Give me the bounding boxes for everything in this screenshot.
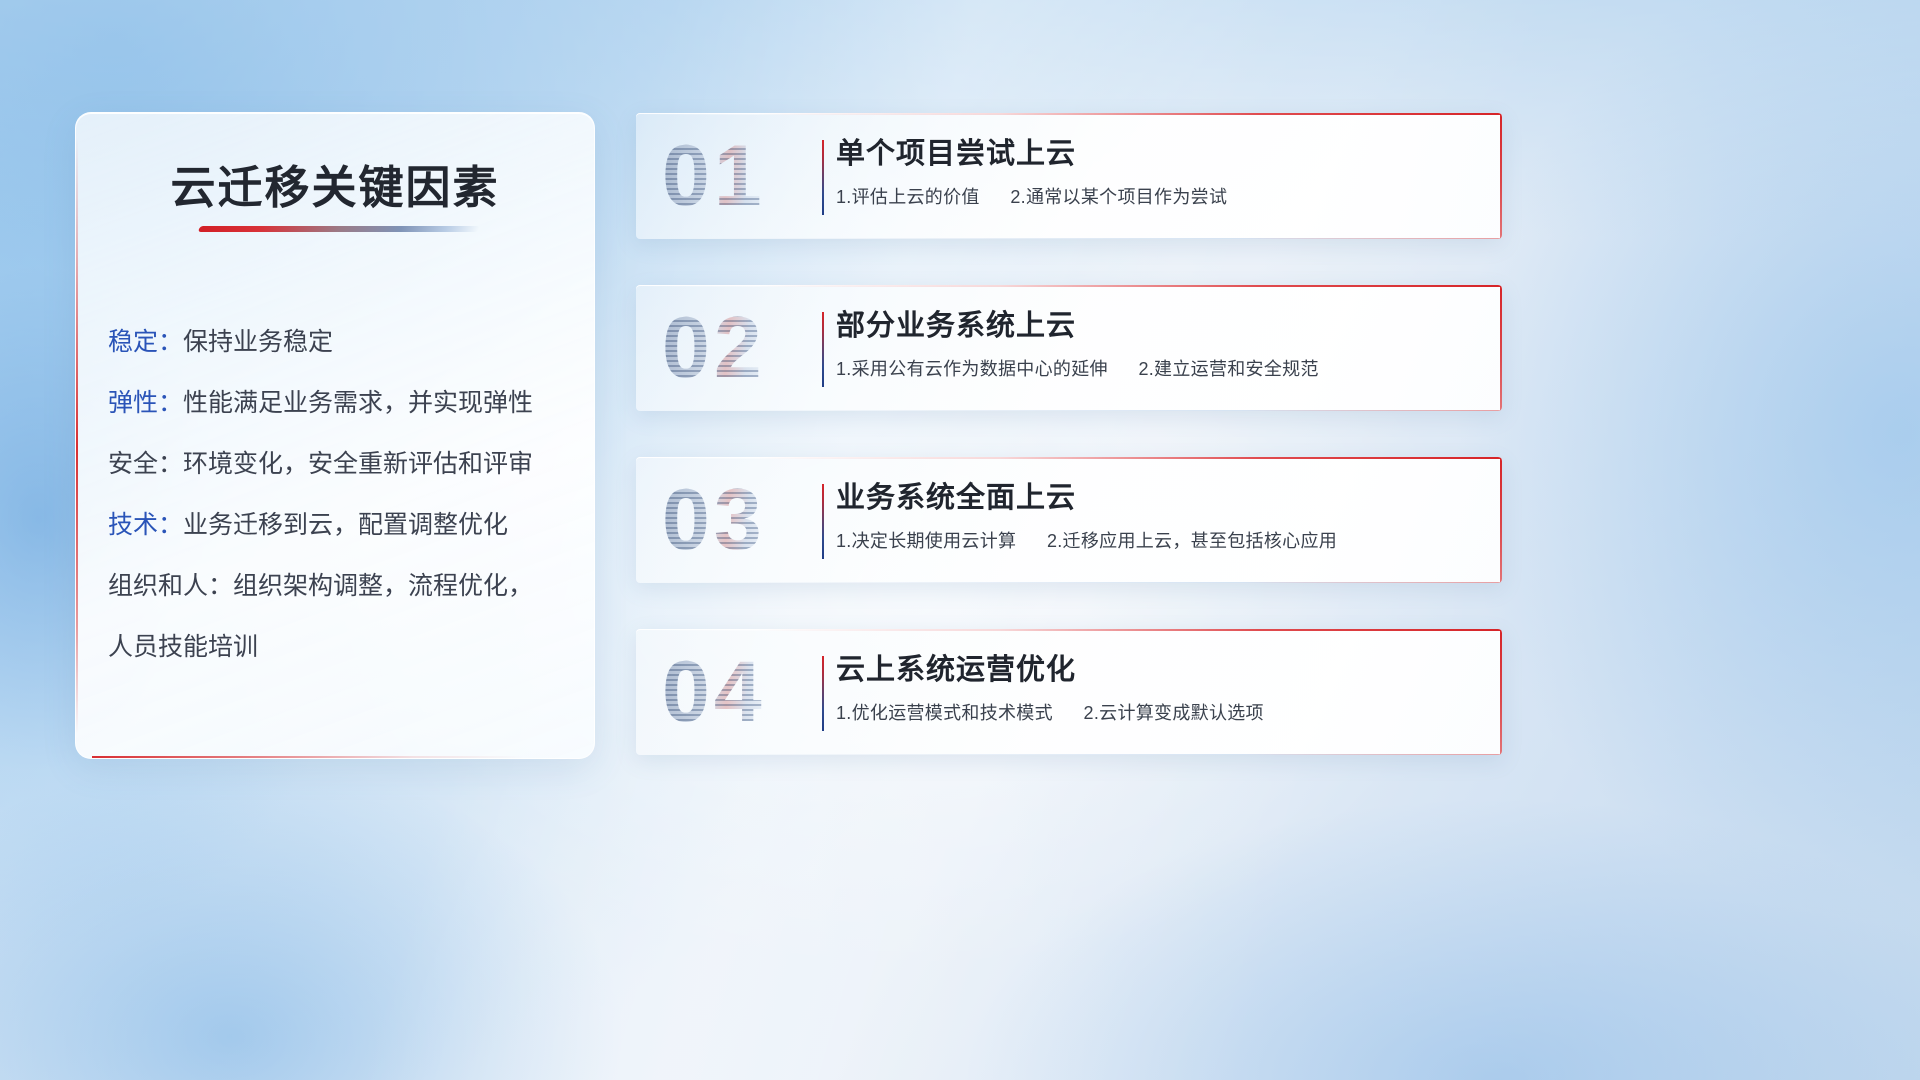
stage-cards-list: 01 单个项目尝试上云 1.评估上云的价值 2.通常以某个项目作为尝试 02 部… (636, 113, 1502, 801)
card-top-accent (636, 629, 1502, 631)
card-content: 部分业务系统上云 1.采用公有云作为数据中心的延伸 2.建立运营和安全规范 (836, 309, 1480, 381)
card-step-number: 01 (662, 133, 766, 219)
key-factors-panel: 云迁移关键因素 稳定： 保持业务稳定 弹性： 性能满足业务需求，并实现弹性 安全… (75, 112, 595, 759)
card-bottom-edge (636, 410, 1502, 411)
card-subitem: 2.云计算变成默认选项 (1084, 703, 1264, 723)
card-divider-bar (822, 140, 824, 215)
card-divider-bar (822, 484, 824, 559)
list-item-value: 人员技能培训 (108, 627, 258, 663)
list-item-label: 弹性： (108, 383, 183, 419)
list-item-value: 性能满足业务需求，并实现弹性 (183, 383, 533, 419)
card-top-accent (636, 285, 1502, 287)
card-right-accent (1500, 285, 1502, 411)
card-subtitle: 1.采用公有云作为数据中心的延伸 2.建立运营和安全规范 (836, 355, 1480, 381)
card-subitem: 1.决定长期使用云计算 (836, 531, 1016, 551)
list-item: 技术： 业务迁移到云，配置调整优化 (108, 492, 576, 553)
list-item: 安全： 环境变化，安全重新评估和评审 (108, 431, 576, 492)
card-step-number: 03 (662, 477, 766, 563)
key-factors-list: 稳定： 保持业务稳定 弹性： 性能满足业务需求，并实现弹性 安全： 环境变化，安… (108, 309, 576, 675)
stage-card[interactable]: 04 云上系统运营优化 1.优化运营模式和技术模式 2.云计算变成默认选项 (636, 629, 1502, 755)
list-item: 组织和人： 组织架构调整，流程优化， (108, 553, 576, 614)
card-title: 业务系统全面上云 (836, 481, 1480, 516)
list-item-label: 组织和人： (108, 566, 233, 602)
stage-card[interactable]: 02 部分业务系统上云 1.采用公有云作为数据中心的延伸 2.建立运营和安全规范 (636, 285, 1502, 411)
card-bottom-edge (636, 754, 1502, 755)
list-item-value: 组织架构调整，流程优化， (233, 566, 533, 602)
list-item-value: 业务迁移到云，配置调整优化 (183, 505, 508, 541)
card-subtitle: 1.决定长期使用云计算 2.迁移应用上云，甚至包括核心应用 (836, 527, 1480, 553)
title-underline-accent (198, 226, 480, 232)
list-item: 弹性： 性能满足业务需求，并实现弹性 (108, 370, 576, 431)
card-divider-bar (822, 312, 824, 387)
card-title: 部分业务系统上云 (836, 309, 1480, 344)
card-content: 云上系统运营优化 1.优化运营模式和技术模式 2.云计算变成默认选项 (836, 653, 1480, 725)
card-subtitle: 1.优化运营模式和技术模式 2.云计算变成默认选项 (836, 699, 1480, 725)
card-step-number: 02 (662, 305, 766, 391)
stage-card[interactable]: 03 业务系统全面上云 1.决定长期使用云计算 2.迁移应用上云，甚至包括核心应… (636, 457, 1502, 583)
card-content: 单个项目尝试上云 1.评估上云的价值 2.通常以某个项目作为尝试 (836, 137, 1480, 209)
card-divider-bar (822, 656, 824, 731)
list-item-value: 环境变化，安全重新评估和评审 (183, 444, 533, 480)
card-subitem: 1.采用公有云作为数据中心的延伸 (836, 359, 1108, 379)
list-item-label: 稳定： (108, 322, 183, 358)
card-right-accent (1500, 457, 1502, 583)
card-title: 单个项目尝试上云 (836, 137, 1480, 172)
panel-title: 云迁移关键因素 (76, 151, 594, 216)
list-item-label: 技术： (108, 505, 183, 541)
card-bottom-edge (636, 582, 1502, 583)
list-item-value: 保持业务稳定 (183, 322, 333, 358)
card-subitem: 2.通常以某个项目作为尝试 (1010, 187, 1227, 207)
list-item: 稳定： 保持业务稳定 (108, 309, 576, 370)
card-content: 业务系统全面上云 1.决定长期使用云计算 2.迁移应用上云，甚至包括核心应用 (836, 481, 1480, 553)
list-item-label: 安全： (108, 444, 183, 480)
list-item-continuation: 人员技能培训 (108, 614, 576, 675)
slide-canvas: 云迁移关键因素 稳定： 保持业务稳定 弹性： 性能满足业务需求，并实现弹性 安全… (0, 0, 1920, 1080)
card-subitem: 2.建立运营和安全规范 (1138, 359, 1318, 379)
card-subitem: 1.优化运营模式和技术模式 (836, 703, 1053, 723)
stage-card[interactable]: 01 单个项目尝试上云 1.评估上云的价值 2.通常以某个项目作为尝试 (636, 113, 1502, 239)
card-subitem: 1.评估上云的价值 (836, 187, 980, 207)
card-top-accent (636, 457, 1502, 459)
card-subtitle: 1.评估上云的价值 2.通常以某个项目作为尝试 (836, 183, 1480, 209)
card-top-accent (636, 113, 1502, 115)
card-step-number: 04 (662, 649, 766, 735)
card-bottom-edge (636, 238, 1502, 239)
card-right-accent (1500, 113, 1502, 239)
card-subitem: 2.迁移应用上云，甚至包括核心应用 (1047, 531, 1337, 551)
card-title: 云上系统运营优化 (836, 653, 1480, 688)
card-right-accent (1500, 629, 1502, 755)
